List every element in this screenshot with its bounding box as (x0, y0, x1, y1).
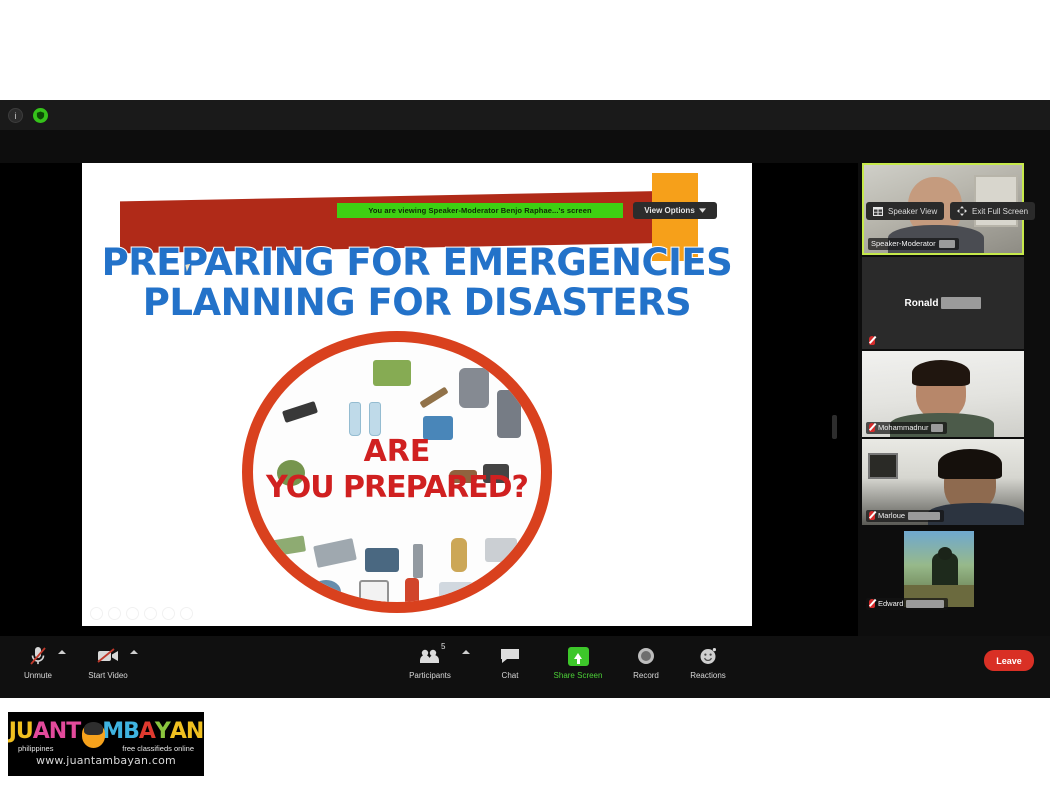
radio-icon (365, 548, 399, 572)
flashlight-icon (282, 401, 318, 423)
hammer-icon (419, 387, 448, 409)
participants-button[interactable]: 5 Participants (398, 644, 462, 680)
brand-part-3: MB (102, 721, 139, 743)
cash-icon (270, 535, 306, 556)
participant-name-label: Mohammadnur (866, 422, 947, 434)
tagline-left: philippines (18, 744, 53, 753)
spotlight-icon[interactable] (162, 607, 175, 620)
participant-name-text: Mohammadnur (878, 423, 928, 432)
slide-title-line1: PREPARING FOR EMERGENCIES (102, 241, 733, 284)
redaction-bar (906, 600, 944, 608)
batteries-icon (313, 538, 357, 568)
leave-label: Leave (996, 656, 1022, 666)
slide-title-line2: PLANNING FOR DISASTERS (82, 283, 752, 323)
participant-name-text: Speaker-Moderator (871, 239, 936, 248)
select-icon[interactable] (90, 607, 103, 620)
shared-screen-region[interactable]: PREPARING FOR EMERGENCIES PLANNING FOR D… (0, 163, 858, 636)
gloves-icon (451, 538, 467, 572)
reactions-smiley-icon (699, 644, 717, 668)
brand-part-4: A (139, 721, 155, 743)
redaction-bar (931, 424, 943, 432)
person-hair (938, 449, 1002, 479)
speaker-view-label: Speaker View (888, 207, 937, 216)
first-aid-kit-icon (373, 360, 411, 386)
video-options-chevron-icon[interactable] (130, 650, 138, 654)
record-label: Record (633, 671, 659, 680)
brand-taglines: philippines free classifieds online (18, 744, 194, 753)
participant-tile[interactable]: Mohammadnur (862, 351, 1024, 437)
zoom-meeting-window: i PREPARING FOR EMERGENCIES PLANNING FOR… (0, 100, 1050, 698)
view-options-label: View Options (644, 206, 695, 215)
unmute-label: Unmute (24, 671, 52, 680)
chevron-down-icon (699, 208, 706, 213)
panel-resize-handle[interactable] (832, 415, 837, 439)
chat-button[interactable]: Chat (478, 644, 542, 680)
record-circle-icon (637, 644, 655, 668)
participants-label: Participants (409, 671, 451, 680)
participant-tile[interactable]: Edward (862, 527, 1024, 613)
redaction-bar (941, 297, 981, 309)
wrench-icon (413, 544, 423, 578)
leave-button[interactable]: Leave (984, 650, 1034, 671)
jacket-icon (459, 368, 489, 408)
screenshot-root: i PREPARING FOR EMERGENCIES PLANNING FOR… (0, 0, 1050, 788)
shield-encryption-icon[interactable] (33, 108, 48, 123)
tape-roll-icon (311, 580, 341, 604)
toolbox-icon (485, 538, 517, 562)
emergency-supplies-circle: ARE YOU PREPARED? (242, 331, 552, 613)
brand-part-5: Y (155, 721, 170, 743)
watermark-logo: JU ANT MB A Y AN philippines free classi… (8, 712, 204, 776)
stamp-icon[interactable] (144, 607, 157, 620)
pants-icon (497, 390, 521, 438)
participant-name-text: Edward (878, 599, 903, 608)
reactions-label: Reactions (690, 671, 726, 680)
clipboard-icon (359, 580, 389, 613)
person-hair (912, 360, 970, 386)
expand-arrows-icon (957, 206, 967, 216)
brand-wordmark: JU ANT MB A Y AN (9, 721, 204, 743)
slide-center-text: ARE YOU PREPARED? (253, 434, 541, 506)
fire-extinguisher-icon (405, 578, 419, 613)
speaker-view-button[interactable]: Speaker View (866, 202, 944, 220)
share-screen-label: Share Screen (554, 671, 603, 680)
exit-full-screen-label: Exit Full Screen (972, 207, 1028, 216)
text-icon[interactable] (108, 607, 121, 620)
slide-center-line1: ARE (364, 434, 431, 469)
people-icon: 5 (419, 644, 441, 668)
audio-options-chevron-icon[interactable] (58, 650, 66, 654)
brand-url: www.juantambayan.com (36, 754, 176, 767)
slide-center-line2: YOU PREPARED? (253, 470, 541, 506)
brand-part-6: AN (170, 721, 203, 743)
record-button[interactable]: Record (614, 644, 678, 680)
meeting-control-bar: Unmute Start Video (0, 636, 1050, 698)
participant-name-label: Marloue (866, 510, 944, 522)
view-options-button[interactable]: View Options (633, 202, 717, 219)
mascot-icon (82, 724, 105, 748)
share-screen-button[interactable]: Share Screen (546, 644, 610, 680)
microphone-muted-icon (29, 644, 47, 668)
draw-icon[interactable] (126, 607, 139, 620)
participant-video (904, 531, 974, 607)
meeting-top-bar: i (0, 100, 1050, 130)
eraser-icon[interactable] (180, 607, 193, 620)
grid-view-icon (873, 207, 883, 216)
microphone-muted-icon (869, 423, 875, 432)
speech-bubble-icon (500, 644, 520, 668)
person-head (938, 547, 952, 560)
info-icon[interactable]: i (8, 108, 23, 123)
participant-name-text: Ronald (905, 298, 939, 309)
microphone-muted-icon (869, 599, 875, 608)
chat-label: Chat (502, 671, 519, 680)
tagline-right: free classifieds online (122, 744, 194, 753)
exit-full-screen-button[interactable]: Exit Full Screen (950, 202, 1035, 220)
microphone-muted-icon (869, 336, 875, 345)
screen-share-banner: You are viewing Speaker-Moderator Benjo … (337, 203, 623, 218)
slide-title: PREPARING FOR EMERGENCIES PLANNING FOR D… (82, 243, 752, 323)
participant-name-label: Edward (866, 598, 948, 610)
shared-slide: PREPARING FOR EMERGENCIES PLANNING FOR D… (82, 163, 752, 626)
participant-tile[interactable]: Ronald (862, 257, 1024, 349)
slide-annotation-toolbar[interactable] (90, 607, 193, 620)
redaction-bar (908, 512, 940, 520)
redaction-bar (939, 240, 955, 248)
water-bottle-icon (349, 402, 361, 436)
participant-tile[interactable]: Marloue (862, 439, 1024, 525)
brand-part-1: JU (9, 721, 33, 743)
camera-muted-icon (97, 644, 119, 668)
reactions-button[interactable]: Reactions (676, 644, 740, 680)
water-bottle-icon (369, 402, 381, 436)
wall-picture-frame (868, 453, 898, 479)
participant-name-label: Speaker-Moderator (868, 238, 959, 250)
microphone-muted-icon (869, 511, 875, 520)
participants-count: 5 (441, 642, 445, 651)
start-video-label: Start Video (88, 671, 127, 680)
first-aid-case-icon (439, 582, 473, 606)
participants-chevron-icon[interactable] (462, 650, 470, 654)
brand-part-2: ANT (33, 721, 80, 743)
share-screen-icon (568, 644, 589, 668)
participant-name-text: Marloue (878, 511, 905, 520)
participant-video-strip: Speaker-Moderator Ronald Moha (862, 163, 1026, 636)
